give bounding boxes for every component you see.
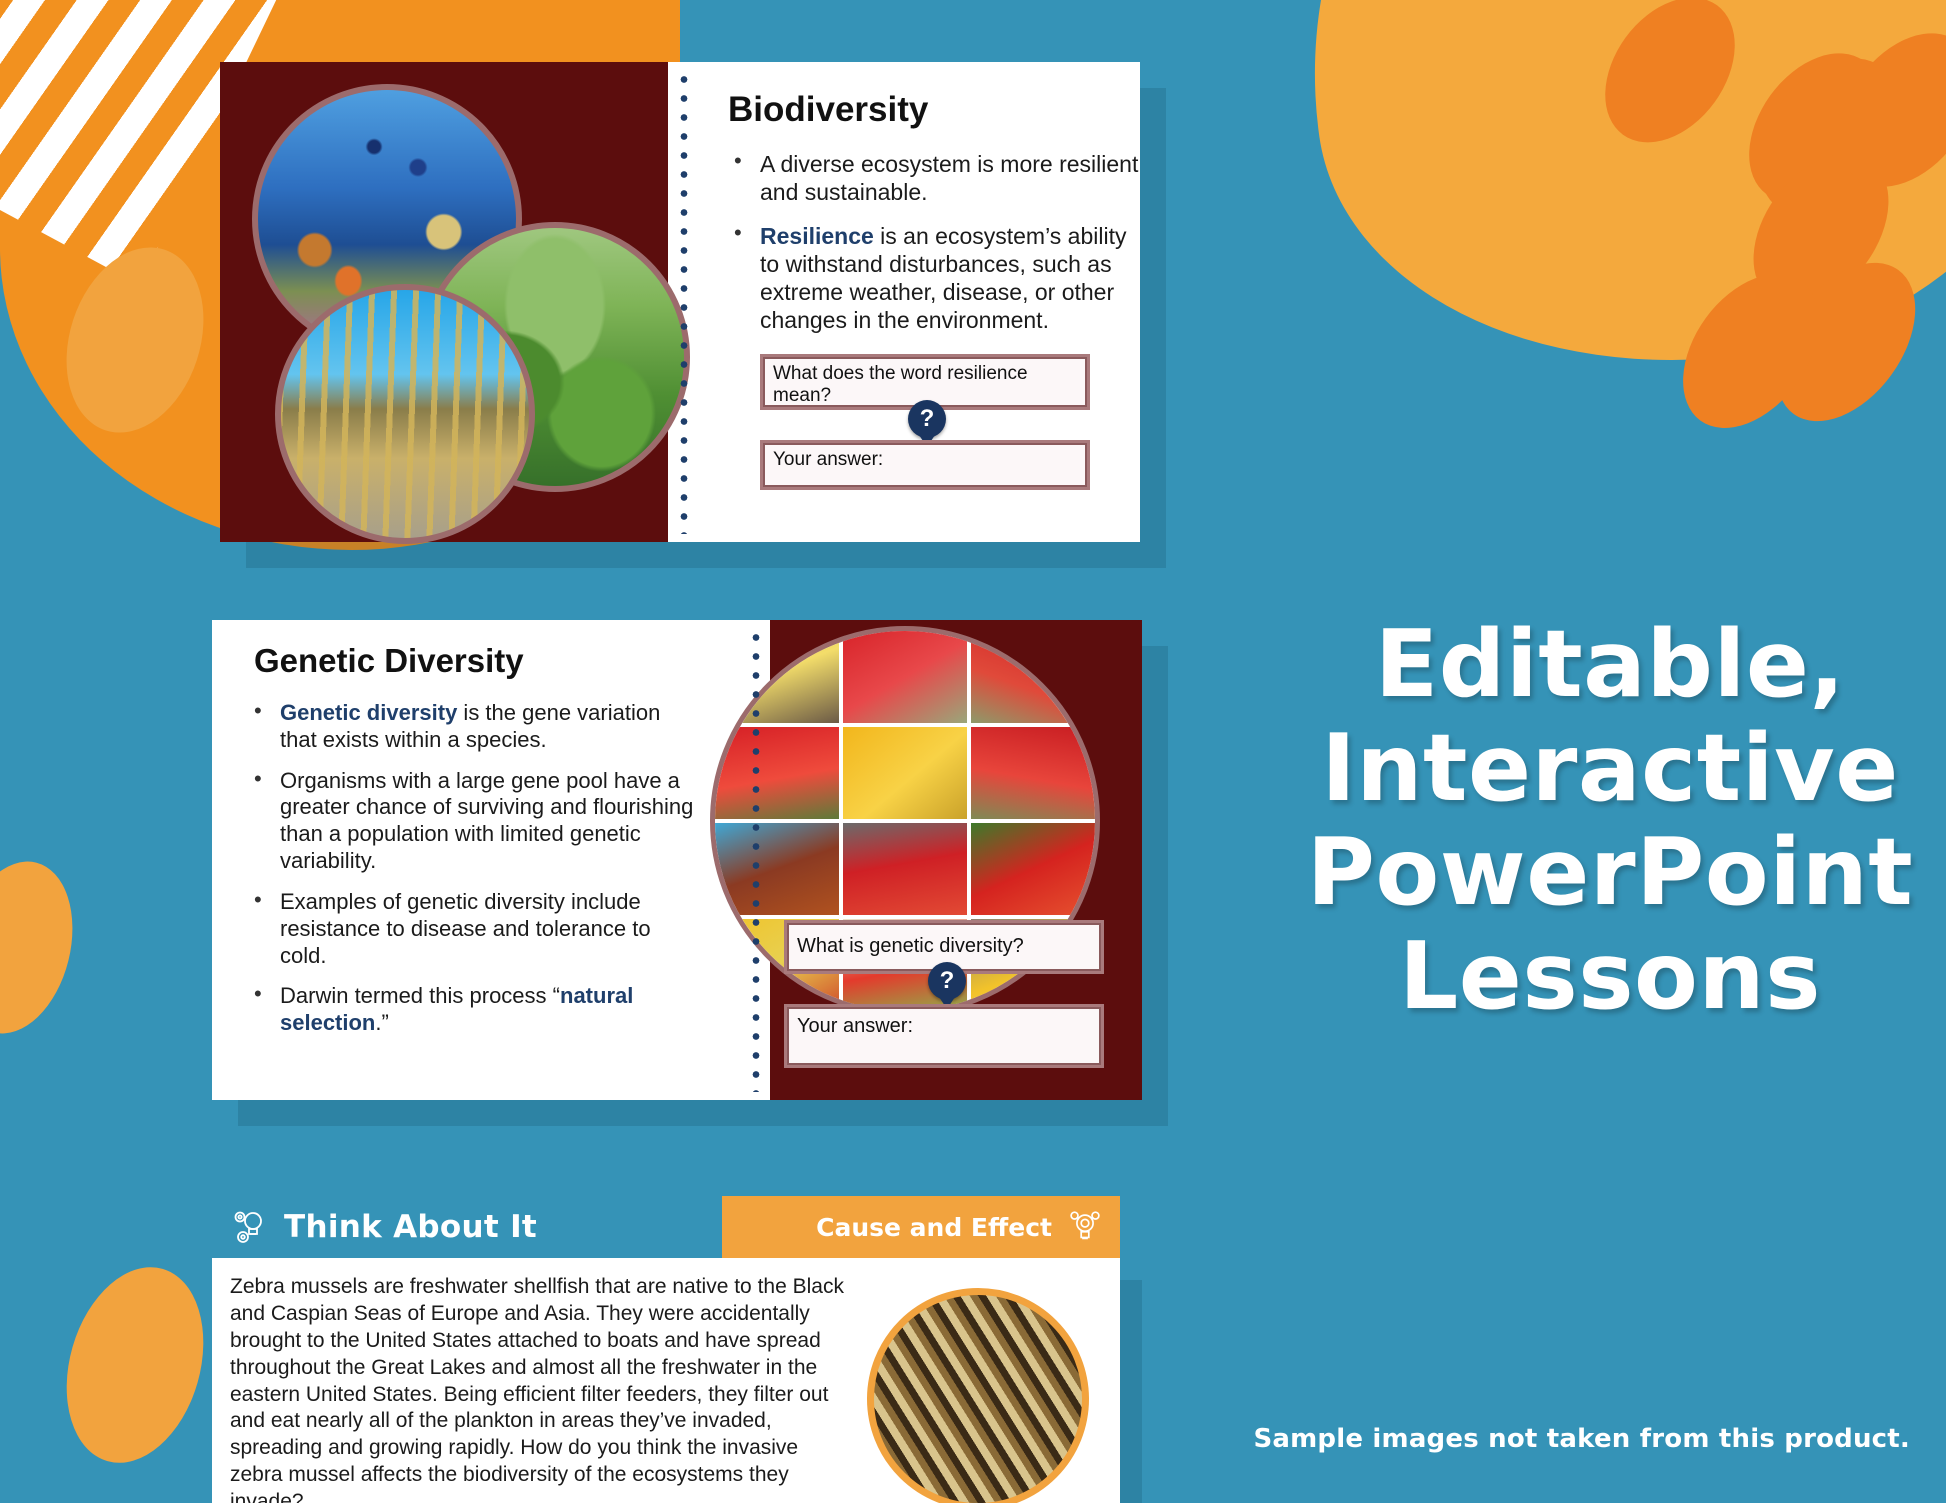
sample-images-disclaimer: Sample images not taken from this produc… xyxy=(1150,1424,1910,1454)
slide2-bullet-4-prefix: Darwin termed this process xyxy=(280,983,547,1008)
hero-line-3: PowerPoint xyxy=(1300,820,1920,924)
slide3-banner-right-label: Cause and Effect xyxy=(816,1213,1052,1242)
slide2-bullet-3-text: Examples of genetic diversity include re… xyxy=(280,889,651,968)
slide2-bullet-4-close: .” xyxy=(375,1010,388,1035)
slide2-bullet-4-open-quote: “ xyxy=(553,983,560,1008)
slide1-question-marker-glyph: ? xyxy=(920,407,935,431)
tomato-cell xyxy=(843,823,967,915)
decor-ellipse-6 xyxy=(1722,28,1908,226)
slide3-banner-left: Think About It xyxy=(212,1196,722,1258)
slide2-question-text: What is genetic diversity? xyxy=(797,935,1024,957)
lightbulb-gears-icon xyxy=(1066,1208,1104,1246)
slide1-question-marker-icon[interactable]: ? xyxy=(908,400,946,438)
slide2-bullet-2-text: Organisms with a large gene pool have a … xyxy=(280,768,693,873)
decor-ellipse-3 xyxy=(0,849,90,1045)
decor-ellipse-5 xyxy=(1578,0,1761,167)
slide1-bullet-1: A diverse ecosystem is more resilient an… xyxy=(760,150,1140,206)
hero-line-2: Interactive xyxy=(1300,716,1920,820)
decor-ellipse-11 xyxy=(1655,249,1847,454)
slide2-bullet-1: Genetic diversity is the gene variation … xyxy=(280,700,700,754)
slide3-banner-right: Cause and Effect xyxy=(722,1196,1120,1258)
slide1-answer-label: Your answer: xyxy=(773,449,883,470)
slide1-bullet-2: Resilience is an ecosystem’s ability to … xyxy=(760,222,1140,334)
slide2-answer-label: Your answer: xyxy=(797,1015,913,1037)
slide1-bullet-1-text: A diverse ecosystem is more resilient an… xyxy=(760,151,1138,205)
slide3-banner-left-label: Think About It xyxy=(284,1209,537,1245)
decor-ellipse-1 xyxy=(44,230,226,451)
tomato-cell xyxy=(843,727,967,819)
slide2-answer-box[interactable]: Your answer: xyxy=(784,1004,1104,1068)
lightbulb-gears-icon xyxy=(230,1207,270,1247)
slide1-bullet-2-keyword: Resilience xyxy=(760,223,874,249)
tomato-cell xyxy=(843,631,967,723)
desert-cactus-photo xyxy=(275,284,535,544)
slide2-question-marker-glyph: ? xyxy=(940,969,955,993)
slide2-bullet-2: Organisms with a large gene pool have a … xyxy=(280,768,700,875)
slide3-body-text: Zebra mussels are freshwater shellfish t… xyxy=(230,1274,850,1503)
slide2-dotted-divider xyxy=(752,628,760,1092)
slide-think-about-it[interactable]: Think About It Cause and Effect Zebra mu… xyxy=(212,1196,1120,1503)
hero-line-1: Editable, xyxy=(1300,612,1920,716)
slide2-question-marker-icon[interactable]: ? xyxy=(928,962,966,1000)
hero-line-4: Lessons xyxy=(1300,924,1920,1028)
decor-ellipse-7 xyxy=(1730,31,1930,243)
decor-ellipse-9 xyxy=(1748,237,1943,447)
poster-canvas: Biodiversity A diverse ecosystem is more… xyxy=(0,0,1946,1503)
decor-ellipse-8 xyxy=(1726,128,1917,331)
top-right-orange-blob xyxy=(1262,0,1946,410)
zebra-mussels-photo xyxy=(867,1288,1089,1503)
slide2-bullet-1-keyword: Genetic diversity xyxy=(280,700,457,725)
decor-ellipse-4 xyxy=(45,1251,225,1479)
decor-ellipse-10 xyxy=(1811,7,1946,212)
tomato-cell xyxy=(715,823,839,915)
tomato-cell xyxy=(971,823,1095,915)
slide1-question-text: What does the word resilience mean? xyxy=(773,363,1028,406)
slide2-title: Genetic Diversity xyxy=(254,642,524,680)
slide-biodiversity[interactable]: Biodiversity A diverse ecosystem is more… xyxy=(220,62,1140,542)
slide1-dotted-divider xyxy=(680,70,688,534)
slide-genetic-diversity[interactable]: Genetic Diversity Genetic diversity is t… xyxy=(212,620,1142,1100)
slide1-title: Biodiversity xyxy=(728,90,928,130)
slide1-answer-box[interactable]: Your answer: xyxy=(760,440,1090,490)
slide2-bullet-3: Examples of genetic diversity include re… xyxy=(280,889,700,969)
tomato-cell xyxy=(715,727,839,819)
tomato-cell xyxy=(971,727,1095,819)
hero-headline: Editable, Interactive PowerPoint Lessons xyxy=(1300,612,1920,1029)
slide2-bullet-4: Darwin termed this process “natural sele… xyxy=(280,983,700,1037)
